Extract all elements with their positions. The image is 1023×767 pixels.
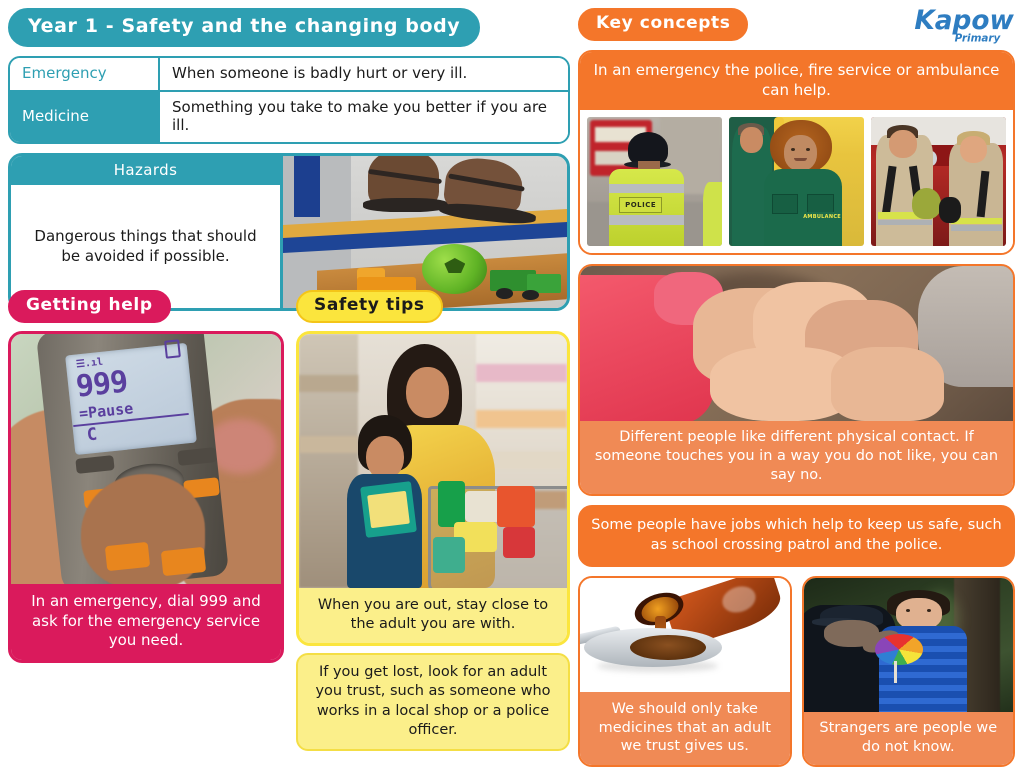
table-row: Emergency When someone is badly hurt or … <box>10 58 568 90</box>
table-row: Medicine Something you take to make you … <box>10 90 568 142</box>
kapow-logo-text: Kapow <box>914 6 1014 36</box>
police-photo: POLICE <box>587 117 722 246</box>
shopping-photo <box>299 334 567 588</box>
strangers-card: Strangers are people we do not know. <box>802 576 1016 767</box>
emergency-services-photos: POLICE <box>580 110 1013 253</box>
bottom-left-panels: Getting help ☰.ıl 999 =Pause C <box>8 290 570 751</box>
bottom-right-cards: We should only take medicines that an ad… <box>578 576 1015 767</box>
battery-icon <box>164 340 181 359</box>
kapow-logo-subtext: Primary <box>955 32 1002 44</box>
safety-tip-box: If you get lost, look for an adult you t… <box>296 653 570 751</box>
phone-number-display: 999 <box>74 364 129 404</box>
emergency-services-text: In an emergency the police, fire service… <box>580 52 1013 110</box>
medicine-spoon-photo <box>580 578 790 692</box>
safety-tips-section: Safety tips <box>296 290 570 751</box>
medicine-caption: We should only take medicines that an ad… <box>580 692 790 765</box>
vocab-term: Medicine <box>10 92 160 142</box>
safety-tips-badge: Safety tips <box>296 290 443 323</box>
ambulance-label: AMBULANCE <box>806 212 838 221</box>
stranger-lollipop-photo <box>804 578 1014 712</box>
hands-photo <box>580 266 1013 421</box>
vocab-term: Emergency <box>10 58 160 90</box>
vocab-definition: Something you take to make you better if… <box>160 92 568 142</box>
page-title: Year 1 - Safety and the changing body <box>8 8 480 47</box>
getting-help-card: ☰.ıl 999 =Pause C <box>8 331 284 663</box>
medicine-card: We should only take medicines that an ad… <box>578 576 792 767</box>
paramedic-photo: AMBULANCE <box>729 117 864 246</box>
vocab-definition: When someone is badly hurt or very ill. <box>160 58 568 90</box>
kapow-logo: Kapow Primary <box>913 2 1017 46</box>
left-column: Year 1 - Safety and the changing body Em… <box>8 8 570 311</box>
right-column: Key concepts In an emergency the police,… <box>578 8 1015 767</box>
strangers-caption: Strangers are people we do not know. <box>804 712 1014 765</box>
safe-jobs-strip: Some people have jobs which help to keep… <box>578 505 1015 567</box>
emergency-services-card: In an emergency the police, fire service… <box>578 50 1015 255</box>
hazards-card: Hazards Dangerous things that should be … <box>8 153 570 311</box>
safety-tips-caption: When you are out, stay close to the adul… <box>299 588 567 643</box>
getting-help-badge: Getting help <box>8 290 171 323</box>
vocabulary-table: Emergency When someone is badly hurt or … <box>8 56 570 144</box>
hazards-text-panel: Hazards Dangerous things that should be … <box>11 156 283 308</box>
safety-tips-card: When you are out, stay close to the adul… <box>296 331 570 646</box>
getting-help-caption: In an emergency, dial 999 and ask for th… <box>11 584 281 660</box>
phone-clear-label: C <box>86 425 98 446</box>
physical-contact-card: Different people like different physical… <box>578 264 1015 496</box>
key-concepts-badge: Key concepts <box>578 8 748 41</box>
police-label: POLICE <box>619 197 662 213</box>
physical-contact-caption: Different people like different physical… <box>580 421 1013 494</box>
hazards-heading: Hazards <box>11 156 280 185</box>
hazards-photo <box>283 156 567 308</box>
knowledge-organiser-page: Year 1 - Safety and the changing body Em… <box>0 0 1023 721</box>
phone-999-photo: ☰.ıl 999 =Pause C <box>11 334 281 584</box>
getting-help-section: Getting help ☰.ıl 999 =Pause C <box>8 290 284 751</box>
firefighters-photo <box>871 117 1006 246</box>
